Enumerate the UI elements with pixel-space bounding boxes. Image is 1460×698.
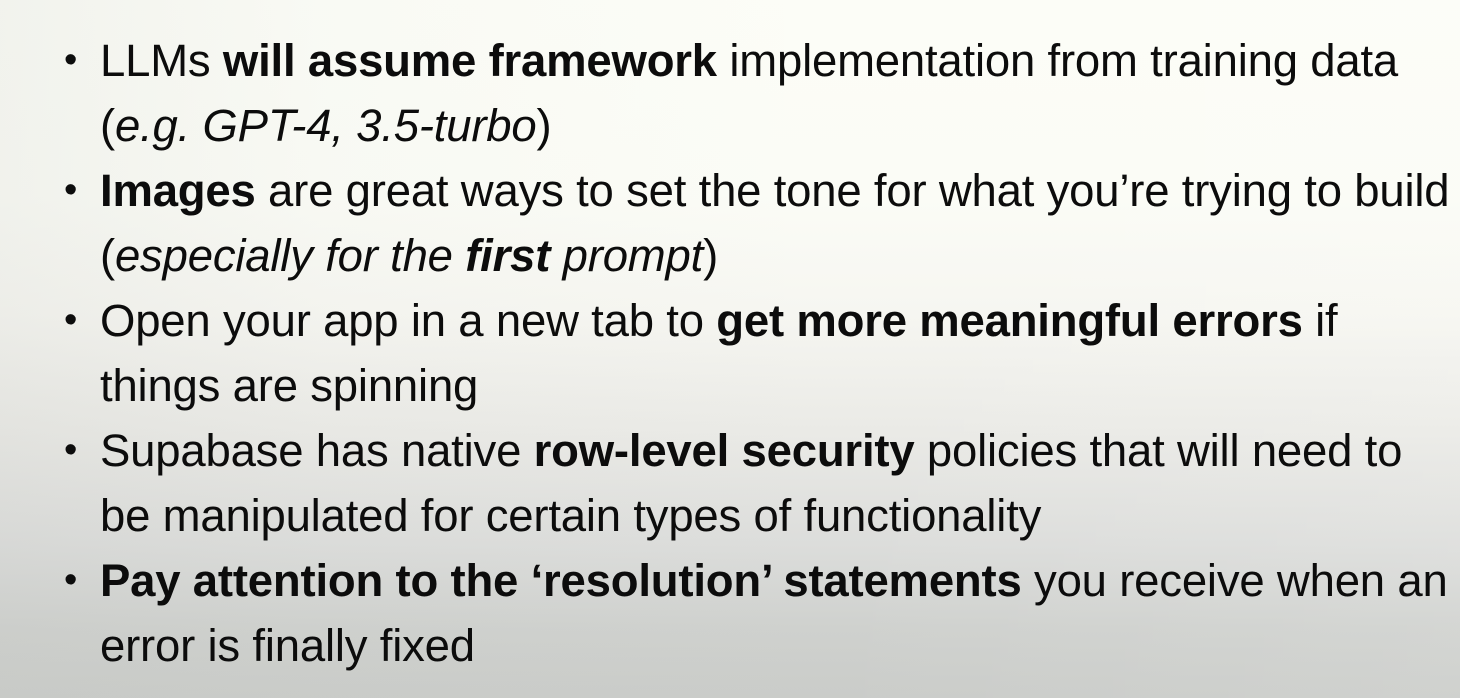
bullet-item-resolution-statements: •Pay attention to the ‘resolution’ state…: [0, 548, 1460, 678]
bullet-text: Supabase has native row-level security p…: [100, 418, 1452, 548]
bullet-list: •LLMs will assume framework implementati…: [0, 28, 1460, 678]
text-run: ): [703, 230, 718, 281]
text-run: especially for the: [115, 230, 465, 281]
text-run: Images: [100, 165, 256, 216]
text-run: get more meaningful errors: [716, 295, 1302, 346]
text-run: Open your app in a new tab to: [100, 295, 716, 346]
bullet-item-supabase-row-level-security: •Supabase has native row-level security …: [0, 418, 1460, 548]
text-run: Pay attention to the ‘resolution’ statem…: [100, 555, 1022, 606]
bullet-point-icon: •: [64, 418, 84, 483]
bullet-text: Pay attention to the ‘resolution’ statem…: [100, 548, 1452, 678]
bullet-item-images-set-tone: •Images are great ways to set the tone f…: [0, 158, 1460, 288]
text-run: LLMs: [100, 35, 223, 86]
text-run: e.g. GPT-4, 3.5-turbo: [115, 100, 537, 151]
bullet-point-icon: •: [64, 28, 84, 93]
bullet-text: LLMs will assume framework implementatio…: [100, 28, 1452, 158]
text-run: first: [465, 230, 550, 281]
bullet-item-llms-assume-framework: •LLMs will assume framework implementati…: [0, 28, 1460, 158]
bullet-point-icon: •: [64, 158, 84, 223]
text-run: ): [537, 100, 552, 151]
bullet-point-icon: •: [64, 288, 84, 353]
text-run: row-level security: [534, 425, 915, 476]
text-run: will assume framework: [223, 35, 717, 86]
text-run: Supabase has native: [100, 425, 534, 476]
bullet-point-icon: •: [64, 548, 84, 613]
text-run: prompt: [550, 230, 703, 281]
bullet-text: Open your app in a new tab to get more m…: [100, 288, 1452, 418]
slide-canvas: •LLMs will assume framework implementati…: [0, 0, 1460, 698]
bullet-item-open-app-new-tab: •Open your app in a new tab to get more …: [0, 288, 1460, 418]
bullet-text: Images are great ways to set the tone fo…: [100, 158, 1452, 288]
